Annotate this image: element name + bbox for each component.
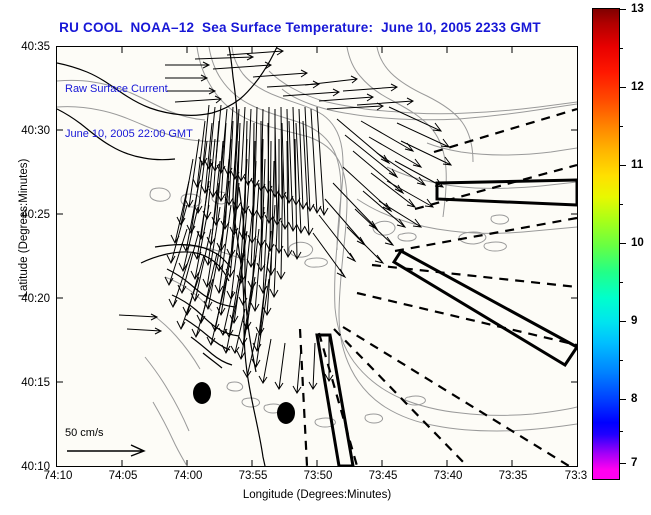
y-axis-title: Latitude (Degrees:Minutes) xyxy=(18,128,30,328)
colorbar-tick-label: 12 xyxy=(631,81,644,93)
x-tick-label: 73:35 xyxy=(499,470,528,482)
annotation-line-2: June 10, 2005 22:00 GMT xyxy=(65,127,193,142)
x-tick-label: 73:50 xyxy=(304,470,333,482)
figure-title: RU COOL NOAA–12 Sea Surface Temperature:… xyxy=(0,20,600,35)
x-tick-label: 74:00 xyxy=(174,470,203,482)
y-tick-label: 40:35 xyxy=(0,41,50,53)
colorbar-tick-label: 7 xyxy=(631,457,637,469)
station-marker[interactable] xyxy=(193,382,211,404)
annotation-line-1: Raw Surface Current xyxy=(65,82,193,97)
colorbar-tick-label: 13 xyxy=(631,3,644,15)
colorbar-tick-label: 10 xyxy=(631,237,644,249)
colorbar-tick-label: 9 xyxy=(631,315,637,327)
y-tick-label: 40:15 xyxy=(0,377,50,389)
x-tick-label: 74:05 xyxy=(109,470,138,482)
colorbar[interactable] xyxy=(592,8,620,480)
radar-beam-wedges xyxy=(317,180,577,466)
colorbar-tick-label: 11 xyxy=(631,159,643,171)
current-annotation: Raw Surface Current June 10, 2005 22:00 … xyxy=(65,52,193,172)
x-tick-label: 73:40 xyxy=(434,470,463,482)
right-arrow-icon xyxy=(65,439,155,459)
scale-legend-label: 50 cm/s xyxy=(65,427,155,439)
x-tick-label: 74:10 xyxy=(44,470,73,482)
figure-canvas: RU COOL NOAA–12 Sea Surface Temperature:… xyxy=(0,0,651,515)
map-plot-area[interactable]: Raw Surface Current June 10, 2005 22:00 … xyxy=(56,46,578,467)
station-marker[interactable] xyxy=(277,402,295,424)
colorbar-tick-labels: 7 8 9 10 11 12 13 xyxy=(622,0,651,515)
x-tick-label: 73:55 xyxy=(239,470,268,482)
scale-legend: 50 cm/s xyxy=(65,427,155,464)
colorbar-tick-label: 8 xyxy=(631,393,637,405)
x-axis-tick-labels: 74:10 74:05 74:00 73:55 73:50 73:45 73:4… xyxy=(0,470,651,490)
x-tick-label: 73:45 xyxy=(369,470,398,482)
x-axis-title: Longitude (Degrees:Minutes) xyxy=(56,489,578,501)
x-tick-label: 73:3 xyxy=(565,470,587,482)
